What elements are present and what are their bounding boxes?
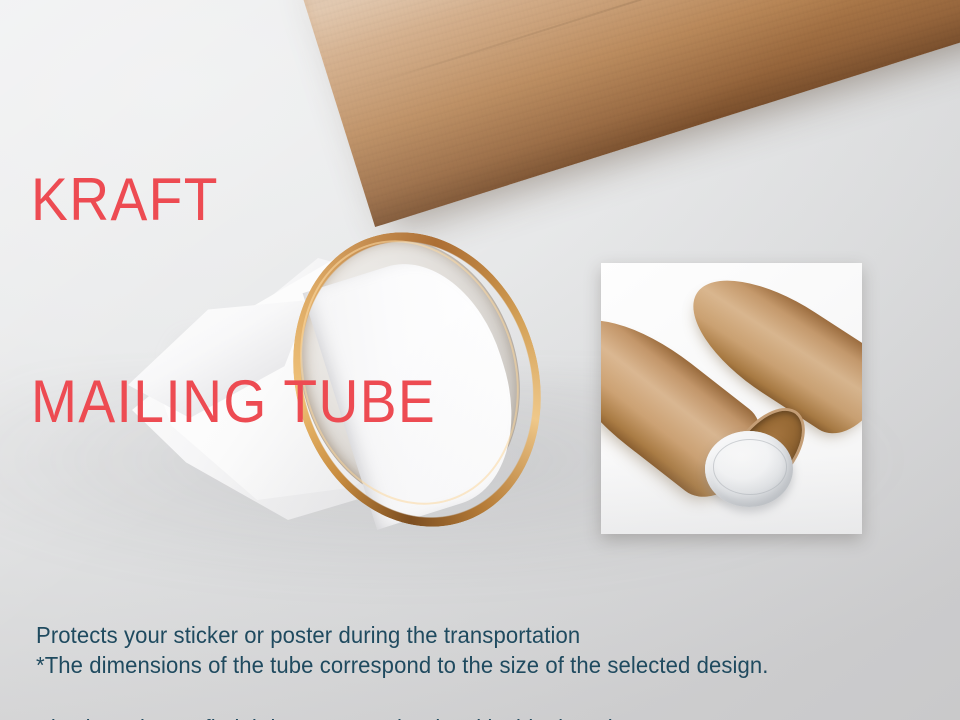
footnote-disclaimer: *The dimensions of the tube correspond t…: [36, 652, 769, 679]
headline-line-2: MAILING TUBE: [31, 368, 436, 435]
headline-line-1: KRAFT: [31, 166, 436, 233]
feature-line-1: Protects your sticker or poster during t…: [36, 620, 633, 651]
product-promo-poster: KRAFT MAILING TUBE Protects your sticker…: [0, 0, 960, 720]
feature-line-2: Plastic end caps fit tightly to secure t…: [36, 713, 633, 720]
feature-description: Protects your sticker or poster during t…: [36, 558, 633, 720]
page-title: KRAFT MAILING TUBE: [31, 32, 436, 570]
